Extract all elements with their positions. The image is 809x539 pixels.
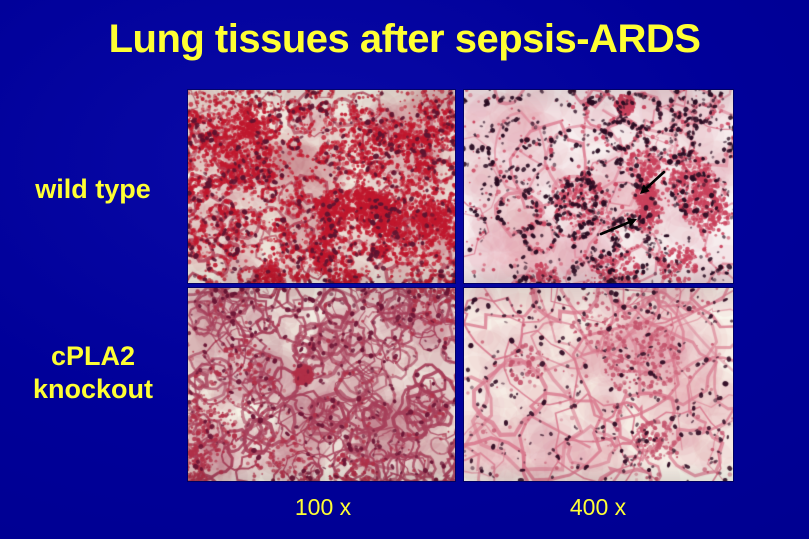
histology-image-knockout-400x	[464, 288, 733, 481]
slide-canvas: Lung tissues after sepsis-ARDS wild type…	[0, 0, 809, 539]
page-title: Lung tissues after sepsis-ARDS	[0, 18, 809, 60]
histology-panel-wild-type-100x	[188, 90, 455, 283]
histology-image-knockout-100x	[188, 288, 455, 481]
histology-image-wild-type-400x	[464, 90, 733, 283]
histology-panel-wild-type-400x	[464, 90, 733, 283]
histology-panel-knockout-400x	[464, 288, 733, 481]
row-label-cpla2-knockout: cPLA2 knockout	[0, 340, 186, 406]
row-label-wild-type: wild type	[0, 173, 186, 206]
histology-image-wild-type-100x	[188, 90, 455, 283]
magnification-label-100x: 100 x	[243, 494, 403, 521]
histology-panel-knockout-100x	[188, 288, 455, 481]
magnification-label-400x: 400 x	[518, 494, 678, 521]
